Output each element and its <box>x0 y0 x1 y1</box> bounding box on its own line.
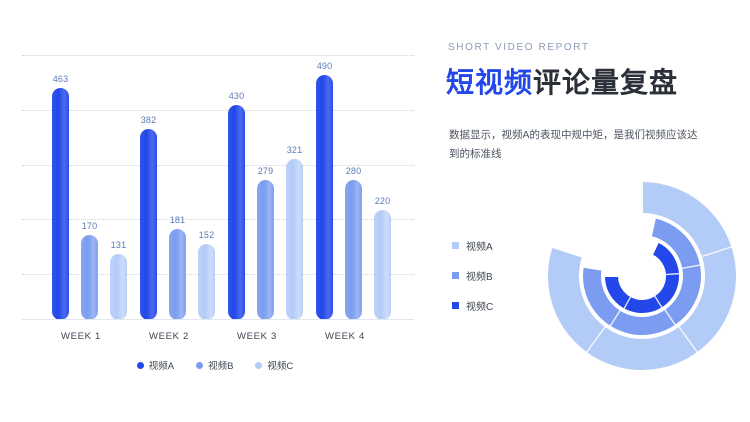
bar-group: 430279321 <box>228 55 316 320</box>
legend-item[interactable]: 视频C <box>255 358 293 372</box>
bar-value-label: 170 <box>82 221 98 231</box>
bar-column[interactable]: 170 <box>81 235 98 320</box>
x-axis-label: WEEK 3 <box>213 331 301 342</box>
bar[interactable] <box>286 159 303 320</box>
x-axis-label: WEEK 4 <box>301 331 389 342</box>
bar[interactable] <box>169 229 186 320</box>
page-title: 短视频评论量复盘 <box>446 61 678 101</box>
legend-swatch-icon <box>196 362 203 369</box>
bar[interactable] <box>198 244 215 320</box>
x-axis-label: WEEK 1 <box>37 331 125 342</box>
legend-swatch-icon <box>255 362 262 369</box>
donut-center-hole <box>620 254 664 298</box>
bar-column[interactable]: 181 <box>169 229 186 320</box>
bar[interactable] <box>228 105 245 320</box>
donut-chart <box>542 176 742 376</box>
bar-chart-legend: 视频A视频B视频C <box>0 358 430 372</box>
report-text-panel: SHORT VIDEO REPORT 短视频评论量复盘 数据显示，视频A的表现中… <box>448 0 750 422</box>
bar-chart-baseline <box>22 319 414 320</box>
bar[interactable] <box>316 75 333 320</box>
nested-donut-svg <box>542 176 742 376</box>
bar-column[interactable]: 220 <box>374 210 391 320</box>
legend-swatch-icon <box>452 272 459 279</box>
donut-divider <box>665 274 680 275</box>
bar-value-label: 321 <box>287 145 303 155</box>
bar-value-label: 220 <box>375 196 391 206</box>
bar-value-label: 181 <box>170 215 186 225</box>
bar[interactable] <box>345 180 362 320</box>
legend-item[interactable]: 视频A <box>452 238 493 253</box>
bar[interactable] <box>257 180 274 320</box>
bar-column[interactable]: 279 <box>257 180 274 320</box>
bar[interactable] <box>81 235 98 320</box>
legend-label: 视频B <box>466 268 493 283</box>
legend-swatch-icon <box>452 242 459 249</box>
bar[interactable] <box>140 129 157 320</box>
bar-value-label: 279 <box>258 166 274 176</box>
bar-column[interactable]: 382 <box>140 129 157 320</box>
report-body-text: 数据显示，视频A的表现中规中矩，是我们视频应该达到的标准线 <box>449 126 701 165</box>
bar-column[interactable]: 280 <box>345 180 362 320</box>
bar-chart-panel: 463170131382181152430279321490280220 视频A… <box>0 0 430 422</box>
bar-column[interactable]: 321 <box>286 159 303 320</box>
bar-value-label: 382 <box>141 115 157 125</box>
bar-value-label: 131 <box>111 240 127 250</box>
legend-item[interactable]: 视频B <box>196 358 233 372</box>
bar-value-label: 430 <box>229 91 245 101</box>
bar[interactable] <box>52 88 69 320</box>
legend-label: 视频C <box>267 358 293 372</box>
bar-value-label: 280 <box>346 166 362 176</box>
page-title-rest: 评论量复盘 <box>533 67 678 98</box>
legend-item[interactable]: 视频B <box>452 268 493 283</box>
bar-column[interactable]: 131 <box>110 254 127 320</box>
report-kicker: SHORT VIDEO REPORT <box>448 42 590 53</box>
bar[interactable] <box>110 254 127 320</box>
bar-column[interactable]: 463 <box>52 88 69 320</box>
bar-group: 382181152 <box>140 55 228 320</box>
bar[interactable] <box>374 210 391 320</box>
bar-group: 490280220 <box>316 55 404 320</box>
bar-value-label: 463 <box>53 74 69 84</box>
legend-label: 视频B <box>208 358 233 372</box>
legend-swatch-icon <box>137 362 144 369</box>
bar-value-label: 152 <box>199 230 215 240</box>
legend-swatch-icon <box>452 302 459 309</box>
legend-label: 视频A <box>466 238 493 253</box>
bar-group: 463170131 <box>52 55 140 320</box>
legend-item[interactable]: 视频A <box>137 358 174 372</box>
legend-label: 视频C <box>466 298 493 313</box>
legend-label: 视频A <box>149 358 174 372</box>
donut-chart-legend: 视频A视频B视频C <box>452 238 493 328</box>
legend-item[interactable]: 视频C <box>452 298 493 313</box>
x-axis-label: WEEK 2 <box>125 331 213 342</box>
page-title-highlight: 短视频 <box>446 67 533 98</box>
bar-column[interactable]: 152 <box>198 244 215 320</box>
bar-column[interactable]: 490 <box>316 75 333 320</box>
bar-value-label: 490 <box>317 61 333 71</box>
bar-column[interactable]: 430 <box>228 105 245 320</box>
bar-chart-plot-area: 463170131382181152430279321490280220 <box>22 55 414 320</box>
